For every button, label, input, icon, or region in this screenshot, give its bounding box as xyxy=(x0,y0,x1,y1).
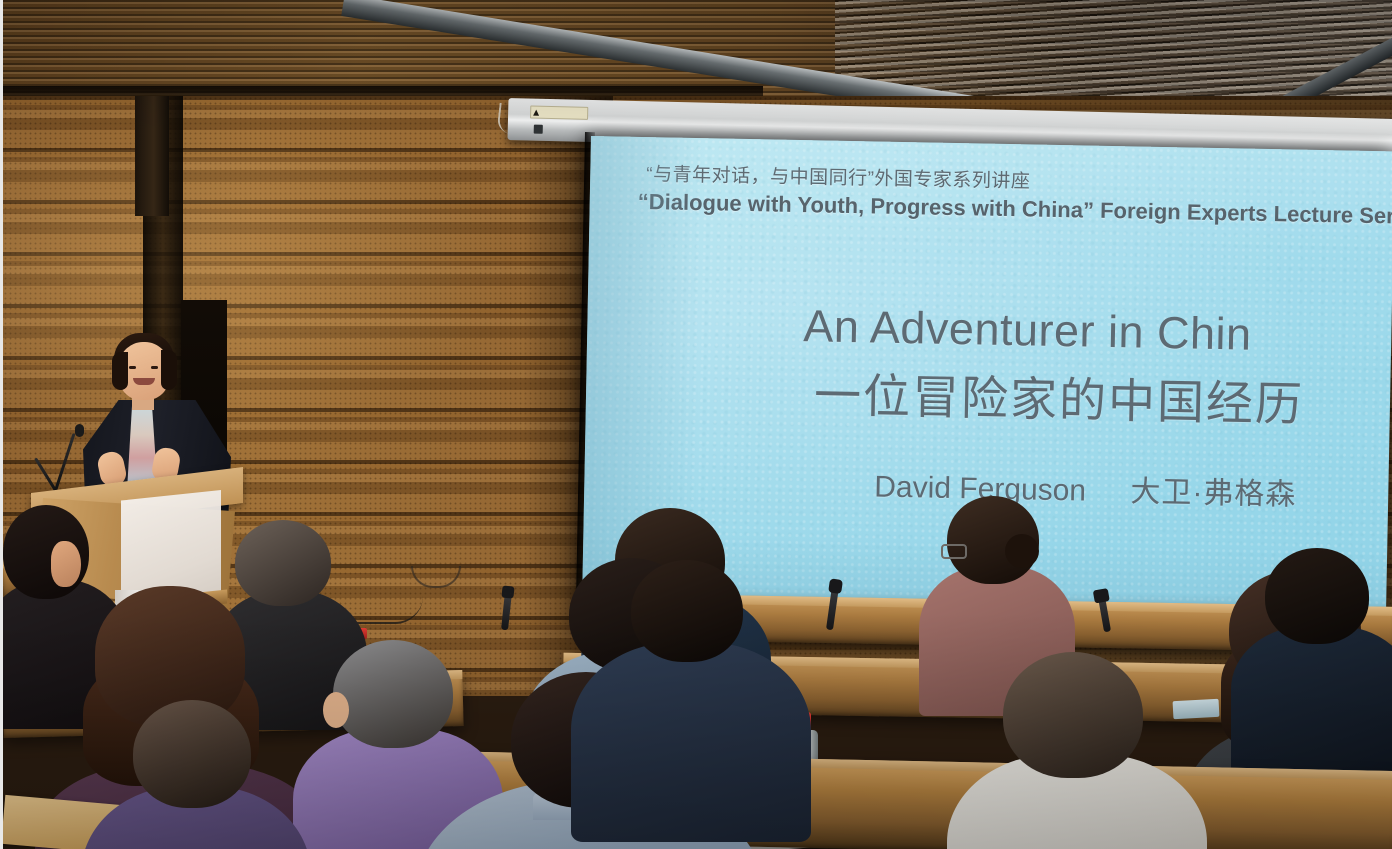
speaker-eye-left xyxy=(129,366,136,369)
ceiling-pillar xyxy=(135,96,169,216)
person-head xyxy=(133,700,251,808)
person-head xyxy=(333,640,453,748)
wall-warm-light xyxy=(3,150,523,450)
warning-triangle-icon xyxy=(533,109,539,115)
person-ear xyxy=(323,692,349,728)
person-torso xyxy=(1231,626,1392,776)
person-glasses xyxy=(941,544,967,559)
person-head xyxy=(1265,548,1369,644)
person-head xyxy=(1003,652,1143,778)
person-head xyxy=(631,560,743,662)
desk-blue-card xyxy=(1173,699,1220,719)
person-head xyxy=(235,520,331,606)
warning-label xyxy=(530,106,588,120)
lecture-hall-photo: “与青年对话，与中国同行”外国专家系列讲座 “Dialogue with You… xyxy=(0,0,1392,849)
speaker-hair-right xyxy=(161,350,177,390)
person-torso xyxy=(571,642,811,842)
speaker-hair-left xyxy=(112,352,128,390)
screen-control-button[interactable] xyxy=(534,125,543,134)
person-face xyxy=(51,541,81,587)
person-hair-bun xyxy=(1005,534,1039,568)
speaker-eye-right xyxy=(151,366,158,369)
speaker-smile xyxy=(133,378,155,385)
podium-microphone-head xyxy=(75,424,84,437)
